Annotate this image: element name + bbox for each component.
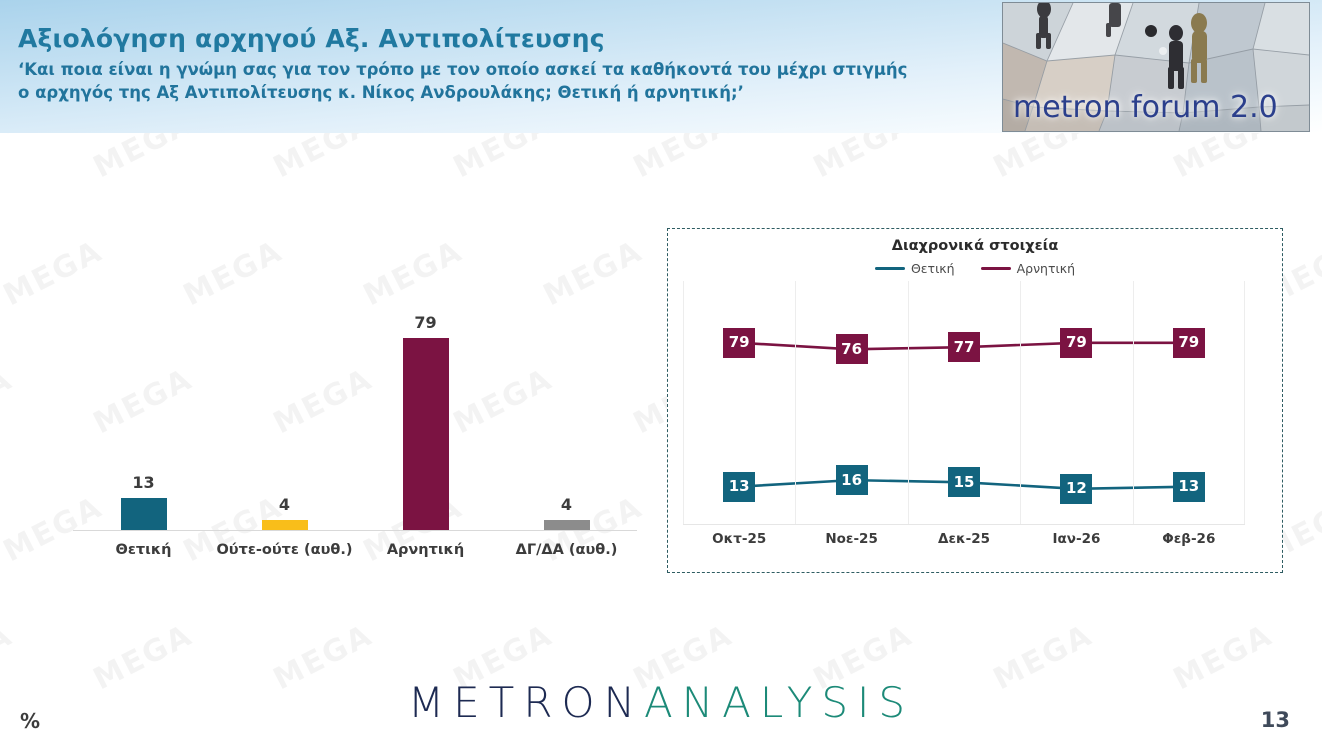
bar-chart-category-labels: ΘετικήΟύτε-ούτε (αυθ.)ΑρνητικήΔΓ/ΔΑ (αυθ… [73, 536, 637, 566]
bar-column: 4 [214, 300, 355, 530]
legend-item: Αρνητική [981, 261, 1075, 276]
bar-category-label: Ούτε-ούτε (αυθ.) [214, 536, 355, 566]
bar-category-label: Αρνητική [355, 536, 496, 566]
metron-forum-banner: metron forum 2.0 [1002, 2, 1310, 132]
page-number: 13 [1261, 708, 1290, 732]
bar [403, 338, 449, 530]
data-point-label: 13 [1173, 472, 1205, 502]
bar-column: 13 [73, 300, 214, 530]
percent-symbol: % [20, 709, 40, 733]
legend-line-swatch [875, 267, 905, 270]
x-axis-label: Ιαν-26 [1020, 531, 1132, 557]
timeseries-title: Διαχρονικά στοιχεία [668, 238, 1282, 254]
x-axis-label: Νοε-25 [795, 531, 907, 557]
gridline-vertical [1244, 281, 1245, 525]
gridline-vertical [795, 281, 796, 525]
bar [262, 520, 308, 530]
bar [121, 498, 167, 530]
x-axis-label: Οκτ-25 [683, 531, 795, 557]
metron-analysis-logo: METRONANALYSIS [0, 678, 1322, 727]
timeseries-legend: ΘετικήΑρνητική [668, 261, 1282, 276]
timeseries-panel: Διαχρονικά στοιχεία ΘετικήΑρνητική 13161… [667, 228, 1283, 573]
logo-metron: METRON [408, 678, 644, 727]
legend-label: Θετική [911, 261, 955, 276]
data-point-label: 16 [836, 465, 868, 495]
gridline-baseline [683, 524, 1245, 525]
bar-value-label: 4 [279, 497, 290, 513]
gridline-vertical [1133, 281, 1134, 525]
data-point-label: 76 [836, 334, 868, 364]
bar-chart: 134794 ΘετικήΟύτε-ούτε (αυθ.)ΑρνητικήΔΓ/… [55, 300, 645, 565]
bar-chart-axis-line [73, 530, 637, 531]
bar-value-label: 4 [561, 497, 572, 513]
x-axis-label: Φεβ-26 [1133, 531, 1245, 557]
bar-column: 79 [355, 300, 496, 530]
gridline-vertical [683, 281, 684, 525]
timeseries-x-labels: Οκτ-25Νοε-25Δεκ-25Ιαν-26Φεβ-26 [683, 531, 1245, 557]
legend-line-swatch [981, 267, 1011, 270]
data-point-label: 12 [1060, 474, 1092, 504]
data-point-label: 79 [1173, 328, 1205, 358]
bar-category-label: ΔΓ/ΔΑ (αυθ.) [496, 536, 637, 566]
data-point-label: 13 [723, 472, 755, 502]
slide-root: MEGAMEGAMEGAMEGAMEGAMEGAMEGAMEGAMEGAMEGA… [0, 0, 1322, 744]
legend-label: Αρνητική [1017, 261, 1075, 276]
page-title: Αξιολόγηση αρχηγού Αξ. Αντιπολίτευσης [18, 24, 978, 54]
data-point-label: 79 [1060, 328, 1092, 358]
gridline-vertical [1020, 281, 1021, 525]
bar-value-label: 13 [132, 475, 154, 491]
logo-analysis: ANALYSIS [644, 678, 914, 727]
header-text-block: Αξιολόγηση αρχηγού Αξ. Αντιπολίτευσης ‘Κ… [18, 24, 978, 104]
bar-chart-columns: 134794 [73, 300, 637, 530]
page-subtitle: ‘Και ποια είναι η γνώμη σας για τον τρόπ… [18, 58, 918, 105]
bar-value-label: 79 [414, 315, 436, 331]
gridline-vertical [908, 281, 909, 525]
bar-column: 4 [496, 300, 637, 530]
banner-logo-text: metron forum 2.0 [1013, 90, 1278, 125]
timeseries-plot: 13161512137976777979 [683, 281, 1245, 525]
watermark-text: MEGA [0, 362, 18, 441]
data-point-label: 79 [723, 328, 755, 358]
data-point-label: 15 [948, 467, 980, 497]
bar [544, 520, 590, 530]
x-axis-label: Δεκ-25 [908, 531, 1020, 557]
legend-item: Θετική [875, 261, 955, 276]
bar-category-label: Θετική [73, 536, 214, 566]
bar-chart-plot: 134794 [55, 300, 645, 532]
data-point-label: 77 [948, 332, 980, 362]
